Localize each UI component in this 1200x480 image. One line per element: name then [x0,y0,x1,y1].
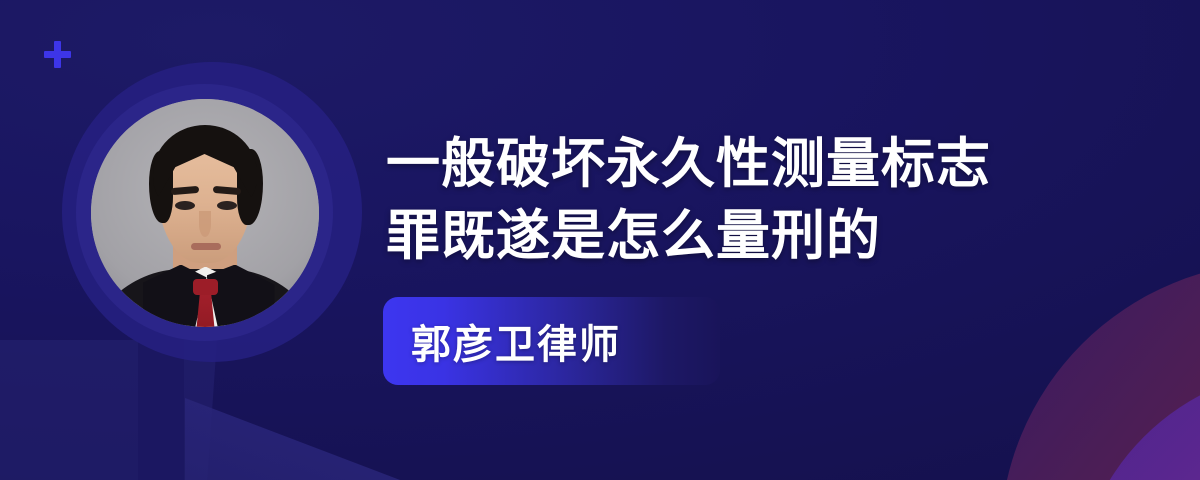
speaker-name-label: 郭彦卫律师 [411,312,621,370]
page-title: 一般破坏永久性测量标志 罪既遂是怎么量刑的 [386,128,1086,272]
avatar [76,84,333,341]
portrait-nose [199,211,211,237]
portrait-eye-left [175,201,195,210]
page-title-line-1: 一般破坏永久性测量标志 [386,128,1086,200]
speaker-name-badge: 郭彦卫律师 [383,297,720,385]
page-title-line-2: 罪既遂是怎么量刑的 [386,200,1086,272]
plus-icon [44,41,71,68]
portrait-mouth [191,243,221,250]
portrait-eye-right [217,201,237,210]
portrait-tie-knot [193,279,218,295]
decor-rect-left [0,340,217,480]
avatar-photo [91,99,319,327]
lawyer-qa-banner: 一般破坏永久性测量标志 罪既遂是怎么量刑的 郭彦卫律师 [0,0,1200,480]
